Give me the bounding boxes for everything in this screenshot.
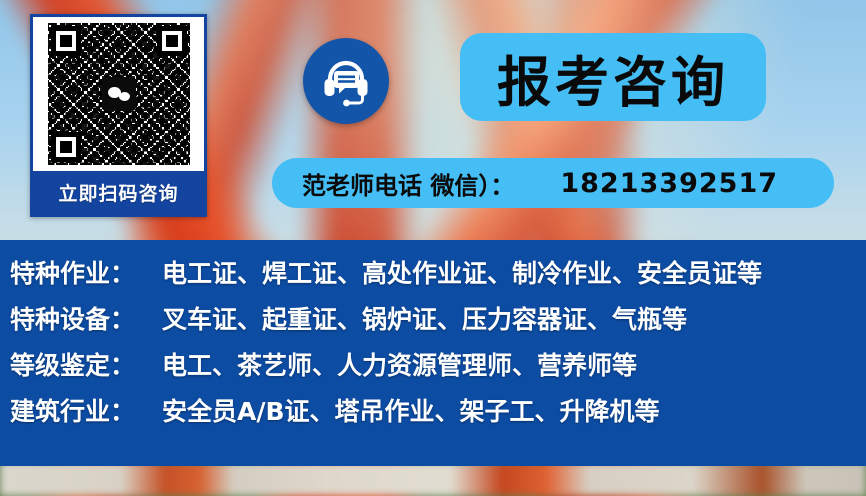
info-row-grade-assessment: 等级鉴定： 电工、茶艺师、人力资源管理师、营养师等 bbox=[10, 346, 866, 392]
headset-support-icon bbox=[303, 38, 389, 124]
qr-finder-top-right bbox=[157, 26, 187, 56]
title-pill: 报考咨询 bbox=[460, 33, 766, 121]
info-row-items: 叉车证、起重证、锅炉证、压力容器证、气瓶等 bbox=[162, 300, 687, 336]
background-floor-strip bbox=[0, 462, 866, 496]
wechat-icon bbox=[102, 77, 136, 111]
info-row-category: 建筑行业： bbox=[10, 392, 162, 428]
info-row-items: 安全员A/B证、塔吊作业、架子工、升降机等 bbox=[162, 392, 660, 428]
qr-finder-top-left bbox=[51, 26, 81, 56]
title-pill-text: 报考咨询 bbox=[497, 38, 729, 117]
phone-pill-label: 范老师电话 微信）： bbox=[302, 166, 514, 201]
phone-pill[interactable]: 范老师电话 微信）： 18213392517 bbox=[272, 158, 834, 208]
info-row-construction-industry: 建筑行业： 安全员A/B证、塔吊作业、架子工、升降机等 bbox=[10, 392, 866, 438]
info-row-special-operations: 特种作业： 电工证、焊工证、高处作业证、制冷作业、安全员证等 bbox=[10, 254, 866, 300]
poster-root: 立即扫码咨询 报考咨询 范老师电话 微信）： 18213392517 特种作业：… bbox=[0, 0, 866, 496]
qr-code-image-area bbox=[33, 17, 204, 171]
qr-card-label: 立即扫码咨询 bbox=[33, 171, 204, 214]
info-panel: 特种作业： 电工证、焊工证、高处作业证、制冷作业、安全员证等 特种设备： 叉车证… bbox=[0, 240, 866, 466]
info-row-items: 电工证、焊工证、高处作业证、制冷作业、安全员证等 bbox=[162, 254, 762, 290]
info-row-special-equipment: 特种设备： 叉车证、起重证、锅炉证、压力容器证、气瓶等 bbox=[10, 300, 866, 346]
phone-number[interactable]: 18213392517 bbox=[560, 168, 778, 199]
info-row-category: 特种作业： bbox=[10, 254, 162, 290]
qr-code-image[interactable] bbox=[48, 23, 190, 165]
info-row-items: 电工、茶艺师、人力资源管理师、营养师等 bbox=[162, 346, 637, 382]
qr-finder-bottom-left bbox=[51, 132, 81, 162]
info-row-category: 特种设备： bbox=[10, 300, 162, 336]
qr-code-card[interactable]: 立即扫码咨询 bbox=[30, 14, 207, 217]
info-row-category: 等级鉴定： bbox=[10, 346, 162, 382]
